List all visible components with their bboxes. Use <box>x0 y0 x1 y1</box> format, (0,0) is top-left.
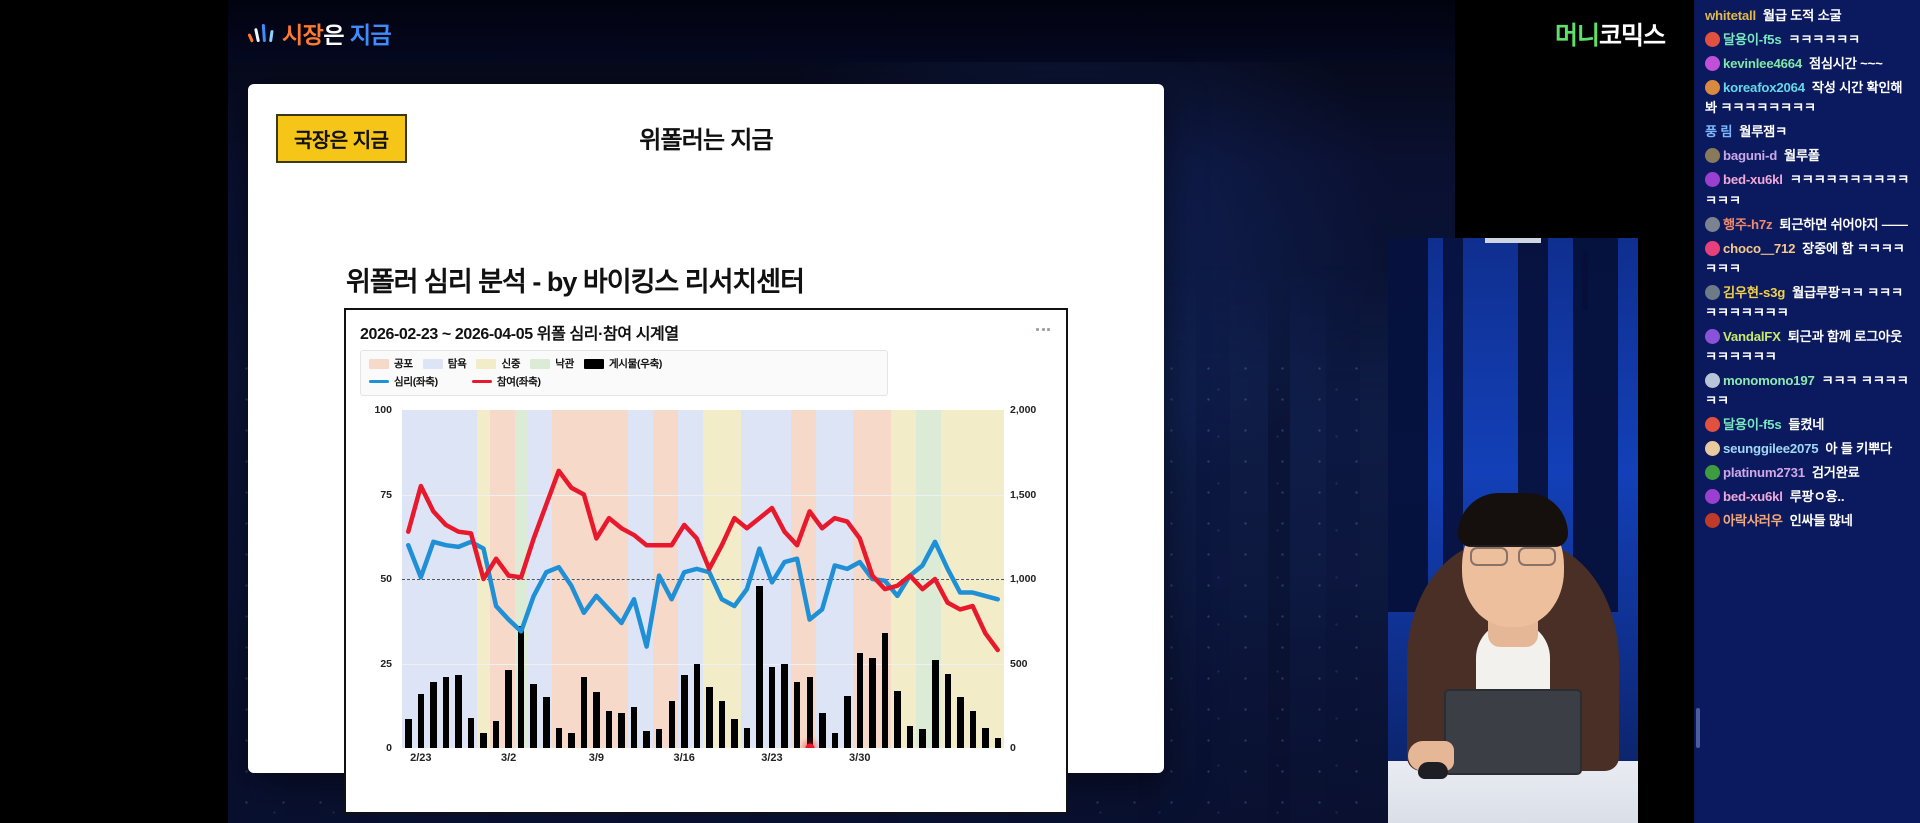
chat-username[interactable]: 행주-h7z <box>1723 217 1772 232</box>
b-avatar-icon <box>1705 172 1720 187</box>
chat-username[interactable]: monomono197 <box>1723 373 1815 388</box>
y-axis-right: 2,0001,5001,0005000 <box>1004 410 1060 748</box>
chat-text: 점심시간 ~~~ <box>1809 56 1883 71</box>
v-avatar-icon <box>1705 329 1720 344</box>
chat-username[interactable]: platinum2731 <box>1723 465 1805 480</box>
letterbox-left <box>0 0 228 823</box>
chat-message: 김우현-s3g 월급루팡ㅋㅋ ㅋㅋㅋㅋㅋㅋㅋㅋㅋㅋ <box>1705 283 1912 323</box>
legend-swatch-icon <box>369 359 389 369</box>
chat-username[interactable]: seunggilee2075 <box>1723 441 1818 456</box>
badge-avatar-icon <box>1705 217 1720 232</box>
moon-avatar-icon <box>1705 373 1720 388</box>
program-logo-part1: 시장 <box>282 22 323 48</box>
girl-avatar-icon <box>1705 441 1720 456</box>
chart-header: 2026-02-23 ~ 2026-04-05 위폴 심리·참여 시계열 <box>346 310 1066 344</box>
chat-message: 풍 림 월루잼ㅋ <box>1705 122 1912 142</box>
spark-bars-icon <box>250 22 276 44</box>
chat-text: 루팡ㅇ용.. <box>1790 489 1845 504</box>
camera-notch <box>1485 238 1541 243</box>
legend-swatch-icon <box>584 359 604 369</box>
chat-message: monomono197 ㅋㅋㅋ ㅋㅋㅋㅋㅋㅋ <box>1705 371 1912 411</box>
chart-title: 2026-02-23 ~ 2026-04-05 위폴 심리·참여 시계열 <box>360 320 1054 344</box>
legend-item[interactable]: 탐욕 <box>423 356 467 371</box>
legend-item[interactable]: 공포 <box>369 356 413 371</box>
computer-mouse <box>1418 762 1448 779</box>
x-axis-tick: 3/9 <box>589 752 604 764</box>
program-logo-part3: 지금 <box>350 22 391 48</box>
legend-swatch-icon <box>423 359 443 369</box>
program-logo-part2: 은 <box>323 22 344 48</box>
chat-username[interactable]: 달용이-f5s <box>1723 417 1781 432</box>
plot-canvas <box>402 410 1004 748</box>
legend-item[interactable]: 참여(좌축) <box>472 374 541 389</box>
y-axis-right-tick: 2,000 <box>1010 404 1036 416</box>
legend-swatch-icon <box>530 359 550 369</box>
chat-text: 들켰네 <box>1788 417 1824 432</box>
ninja-avatar-icon <box>1705 513 1720 528</box>
chat-username[interactable]: 김우현-s3g <box>1723 285 1785 300</box>
y-axis-right-tick: 0 <box>1010 742 1016 754</box>
chat-message: seunggilee2075 아 들 키뿌다 <box>1705 439 1912 459</box>
chat-message: kevinlee4664 점심시간 ~~~ <box>1705 54 1912 74</box>
legend-swatch-icon <box>369 380 389 383</box>
more-dot <box>1036 328 1039 331</box>
x-axis-tick: 3/30 <box>849 752 870 764</box>
chart-legend: 공포탐욕신중낙관게시물(우축)심리(좌축)참여(좌축) <box>360 350 888 396</box>
host-hair <box>1458 493 1568 547</box>
chat-message-list: whitetall 월급 도적 소굴달용이-f5s ㅋㅋㅋㅋㅋㅋkevinlee… <box>1705 6 1912 531</box>
legend-item[interactable]: 신중 <box>476 356 520 371</box>
chat-message: koreafox2064 작성 시간 확인해봐 ㅋㅋㅋㅋㅋㅋㅋㅋ <box>1705 78 1912 118</box>
legend-row: 심리(좌축)참여(좌축) <box>369 374 879 389</box>
legend-label: 탐욕 <box>448 356 467 371</box>
chat-username[interactable]: koreafox2064 <box>1723 80 1805 95</box>
slide-title: 위폴러는 지금 <box>248 120 1164 155</box>
c-avatar-icon <box>1705 241 1720 256</box>
glasses-icon <box>1470 545 1556 561</box>
channel-logo-part1: 머니 <box>1555 16 1599 52</box>
y-axis-left-tick: 0 <box>386 742 392 754</box>
chart-more-options-button[interactable] <box>1030 318 1056 340</box>
y-axis-right-tick: 1,000 <box>1010 573 1036 585</box>
presentation-slide: 국장은 지금 위폴러는 지금 위폴러 심리 분석 - by 바이킹스 리서치센터… <box>248 84 1164 773</box>
chat-username[interactable]: choco＿712 <box>1723 241 1795 256</box>
series-lines <box>402 410 1004 748</box>
program-logo-text: 시장은 지금 <box>282 16 391 50</box>
y-axis-right-tick: 500 <box>1010 658 1028 670</box>
legend-label: 신중 <box>501 356 520 371</box>
chat-username[interactable]: bed-xu6kl <box>1723 489 1783 504</box>
channel-logo: 머니 코믹스 <box>1555 16 1665 52</box>
highlight-marker <box>805 744 814 749</box>
chat-username[interactable]: 풍 림 <box>1705 124 1732 139</box>
chat-text: 월급 도적 소굴 <box>1763 8 1842 23</box>
legend-swatch-icon <box>472 380 492 383</box>
section-title: 위폴러 심리 분석 - by 바이킹스 리서치센터 <box>346 260 804 299</box>
x-axis-tick: 3/16 <box>673 752 694 764</box>
legend-item[interactable]: 심리(좌축) <box>369 374 438 389</box>
k-avatar-icon <box>1705 56 1720 71</box>
p-avatar-icon <box>1705 465 1720 480</box>
y-axis-left-tick: 75 <box>380 489 392 501</box>
chat-text: 퇴근하면 쉬어야지 —— <box>1779 217 1907 232</box>
chat-username[interactable]: kevinlee4664 <box>1723 56 1802 71</box>
person-avatar-icon <box>1705 417 1720 432</box>
chat-message: whitetall 월급 도적 소굴 <box>1705 6 1912 26</box>
channel-logo-part2: 코믹스 <box>1599 16 1665 52</box>
chat-username[interactable]: baguni-d <box>1723 148 1777 163</box>
x-axis-tick: 2/23 <box>410 752 431 764</box>
legend-item[interactable]: 낙관 <box>530 356 574 371</box>
person-avatar-icon <box>1705 32 1720 47</box>
chat-username[interactable]: bed-xu6kl <box>1723 172 1783 187</box>
chat-text: 월루잼ㅋ <box>1739 124 1787 139</box>
y-axis-left-tick: 100 <box>374 404 392 416</box>
y-axis-left-tick: 50 <box>380 573 392 585</box>
legend-label: 심리(좌축) <box>394 374 438 389</box>
chat-message: bed-xu6kl 루팡ㅇ용.. <box>1705 487 1912 507</box>
chat-text: 아 들 키뿌다 <box>1825 441 1892 456</box>
chat-text: 월루폴 <box>1784 148 1820 163</box>
chat-text: 인싸들 많네 <box>1790 513 1853 528</box>
laptop <box>1444 689 1582 775</box>
studio-spire <box>1582 250 1588 310</box>
y-axis-right-tick: 1,500 <box>1010 489 1036 501</box>
chat-message: 아락샤러우 인싸들 많네 <box>1705 511 1912 531</box>
chat-username[interactable]: 달용이-f5s <box>1723 32 1781 47</box>
chart-plot-area: 1007550250 2,0001,5001,0005000 2/233/23/… <box>346 404 1066 782</box>
chat-message: 달용이-f5s 들켰네 <box>1705 415 1912 435</box>
legend-row: 공포탐욕신중낙관게시물(우축) <box>369 356 879 371</box>
chat-message: platinum2731 검거완료 <box>1705 463 1912 483</box>
chat-text: ㅋㅋㅋㅋㅋㅋ <box>1788 32 1860 47</box>
chat-message: baguni-d 월루폴 <box>1705 146 1912 166</box>
chat-message: bed-xu6kl ㅋㅋㅋㅋㅋㅋㅋㅋㅋㅋㅋㅋㅋ <box>1705 170 1912 210</box>
series-line <box>408 471 997 650</box>
badge-avatar-icon <box>1705 285 1720 300</box>
bear-avatar-icon <box>1705 148 1720 163</box>
program-logo: 시장은 지금 <box>250 18 391 48</box>
legend-label: 게시물(우축) <box>609 356 662 371</box>
chat-message: 달용이-f5s ㅋㅋㅋㅋㅋㅋ <box>1705 30 1912 50</box>
chat-text: 검거완료 <box>1812 465 1860 480</box>
live-chat-panel[interactable]: whitetall 월급 도적 소굴달용이-f5s ㅋㅋㅋㅋㅋㅋkevinlee… <box>1694 0 1920 823</box>
x-axis-tick: 3/2 <box>501 752 516 764</box>
chat-username[interactable]: VandalFX <box>1723 329 1781 344</box>
more-dot <box>1042 328 1045 331</box>
y-axis-left: 1007550250 <box>346 410 398 748</box>
broadcast-topbar <box>228 0 1455 62</box>
chat-message: 행주-h7z 퇴근하면 쉬어야지 —— <box>1705 215 1912 235</box>
host-camera-window <box>1388 238 1638 823</box>
stream-stage: 시장은 지금 머니 코믹스 국장은 지금 위폴러는 지금 위폴러 심리 분석 -… <box>0 0 1920 823</box>
chat-username[interactable]: whitetall <box>1705 8 1756 23</box>
legend-label: 공포 <box>394 356 413 371</box>
legend-label: 낙관 <box>555 356 574 371</box>
legend-label: 참여(좌축) <box>497 374 541 389</box>
chat-message: VandalFX 퇴근과 함께 로그아웃 ㅋㅋㅋㅋㅋㅋ <box>1705 327 1912 367</box>
y-axis-left-tick: 25 <box>380 658 392 670</box>
x-axis: 2/233/23/93/163/233/30 <box>402 752 1004 774</box>
legend-item[interactable]: 게시물(우축) <box>584 356 662 371</box>
fox-avatar-icon <box>1705 80 1720 95</box>
chat-username[interactable]: 아락샤러우 <box>1723 513 1783 528</box>
chat-message: choco＿712 장중에 함 ㅋㅋㅋㅋㅋㅋㅋ <box>1705 239 1912 279</box>
x-axis-tick: 3/23 <box>761 752 782 764</box>
legend-swatch-icon <box>476 359 496 369</box>
b-avatar-icon <box>1705 489 1720 504</box>
chart-panel: 2026-02-23 ~ 2026-04-05 위폴 심리·참여 시계열 공포탐… <box>344 308 1068 814</box>
more-dot <box>1047 328 1050 331</box>
chat-scrollbar[interactable] <box>1696 708 1700 748</box>
